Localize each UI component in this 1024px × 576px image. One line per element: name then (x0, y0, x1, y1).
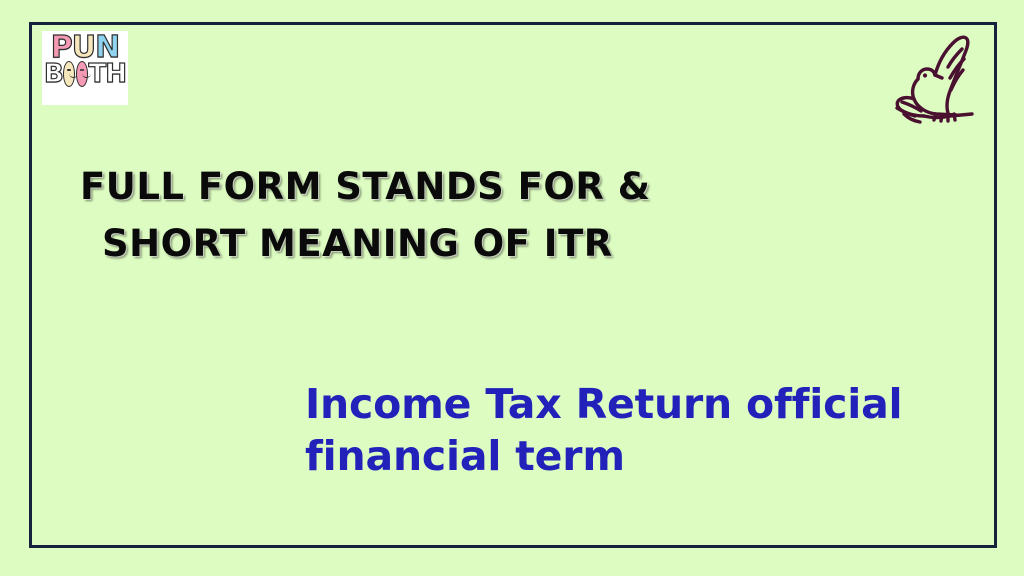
brand-logo-line-booth: B T H (44, 61, 126, 87)
smiley-face-icon-cream (63, 61, 75, 87)
brand-logo[interactable]: P U N B T H (42, 31, 128, 105)
slide-canvas: P U N B T H (0, 0, 1024, 576)
headline-line-1: FULL FORM STANDS FOR & (80, 158, 850, 215)
brand-letter-h: H (105, 61, 126, 87)
answer-line-2: financial term (305, 430, 955, 482)
headline-line-2: SHORT MEANING OF ITR (102, 215, 850, 272)
dove-icon (884, 28, 988, 132)
brand-letter-b: B (44, 61, 63, 87)
brand-letter-t: T (88, 61, 105, 87)
answer-block: Income Tax Return official financial ter… (305, 378, 955, 483)
headline-block: FULL FORM STANDS FOR & SHORT MEANING OF … (80, 158, 850, 273)
smiley-face-icon-pink (76, 61, 88, 87)
answer-line-1: Income Tax Return official (305, 378, 955, 430)
